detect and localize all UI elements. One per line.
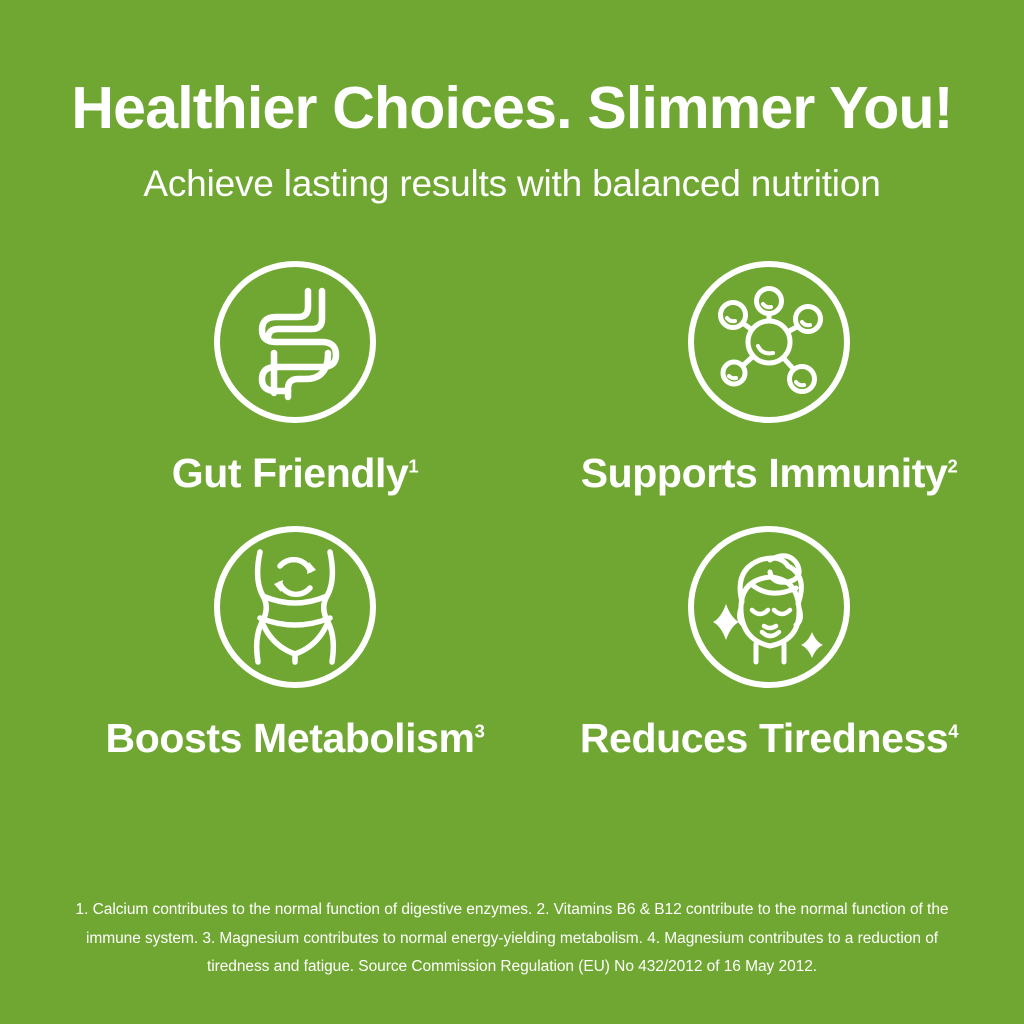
- footnote-disclaimer: 1. Calcium contributes to the normal fun…: [56, 896, 968, 982]
- benefit-label: Supports Immunity2: [581, 427, 958, 494]
- page-title: Healthier Choices. Slimmer You!: [71, 0, 952, 140]
- benefit-item-reduces-tiredness: Reduces Tiredness4: [512, 522, 982, 759]
- promo-poster: Healthier Choices. Slimmer You! Achieve …: [0, 0, 1024, 1024]
- page-subtitle: Achieve lasting results with balanced nu…: [143, 140, 880, 205]
- benefit-item-gut-friendly: Gut Friendly1: [42, 257, 512, 494]
- benefit-label: Boosts Metabolism3: [106, 692, 485, 759]
- rested-face-sparkle-icon: [684, 522, 854, 692]
- benefits-grid: Gut Friendly1: [42, 257, 982, 759]
- benefit-item-boosts-metabolism: Boosts Metabolism3: [42, 522, 512, 759]
- intestine-icon: [210, 257, 380, 427]
- molecule-cells-icon: [684, 257, 854, 427]
- benefit-label: Gut Friendly1: [172, 427, 419, 494]
- benefit-item-supports-immunity: Supports Immunity2: [512, 257, 982, 494]
- benefit-label: Reduces Tiredness4: [580, 692, 958, 759]
- slim-waist-refresh-icon: [210, 522, 380, 692]
